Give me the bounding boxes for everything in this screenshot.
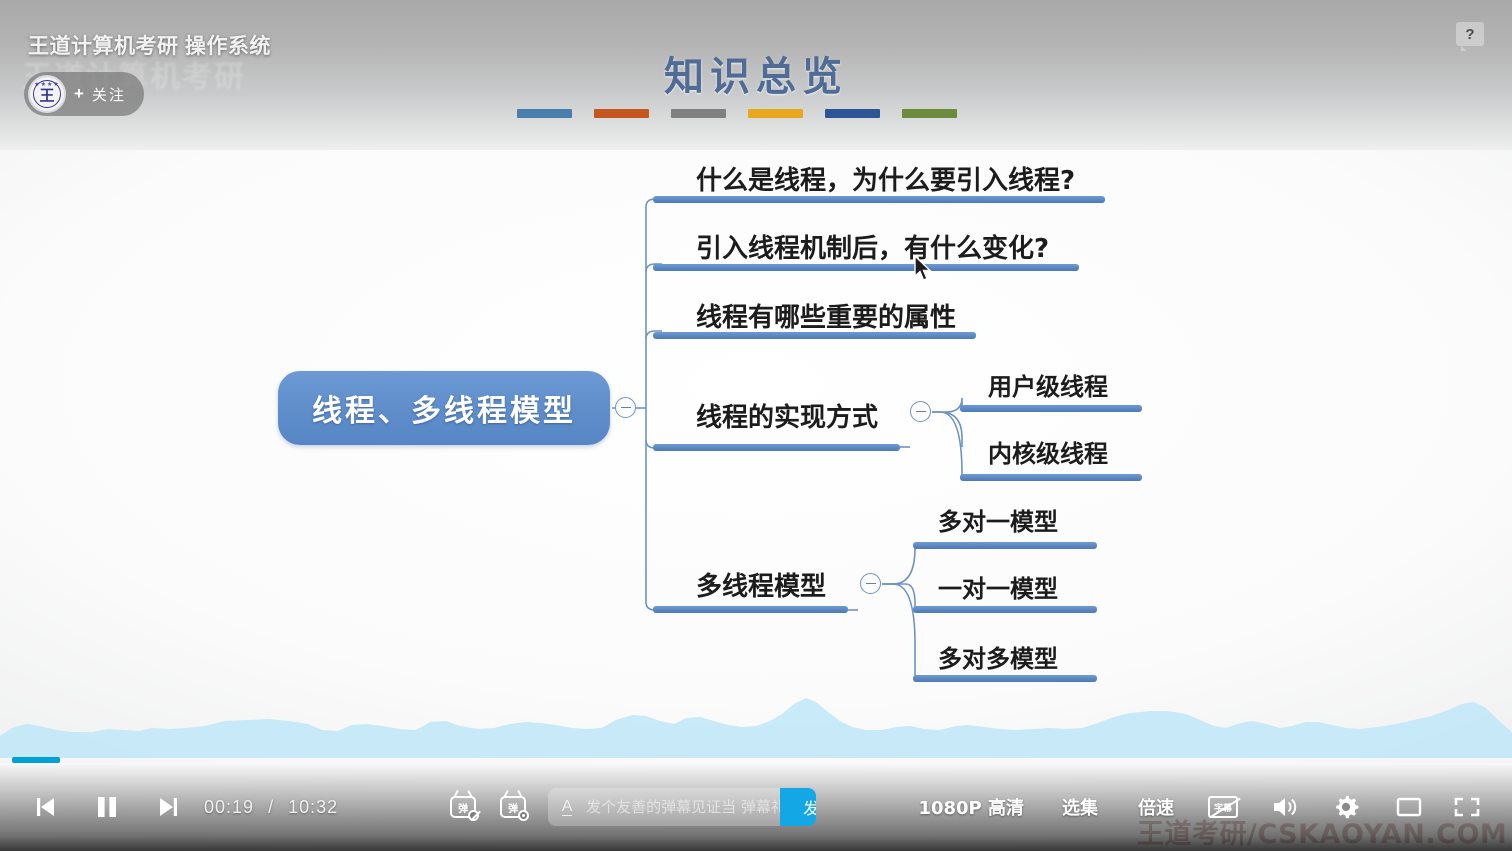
mindmap-node-underline [653, 264, 1079, 271]
mindmap-node-underline [653, 606, 848, 613]
popularity-heat-graph[interactable] [0, 688, 1512, 758]
collapse-toggle-implementation[interactable] [910, 401, 931, 422]
mindmap-node-underline [653, 444, 900, 451]
widescreen-button[interactable] [1394, 794, 1424, 820]
collapse-toggle-root[interactable] [615, 397, 636, 418]
mindmap-node-underline [960, 405, 1142, 412]
subtitle-button[interactable]: 字幕 [1208, 796, 1238, 818]
danmaku-settings-button[interactable]: 弹 [500, 796, 526, 818]
avatar[interactable]: ★★★★ 王 [28, 75, 66, 113]
mindmap-node-underline [913, 542, 1097, 549]
collapse-toggle-models[interactable] [860, 573, 881, 594]
time-separator: / [268, 797, 274, 817]
settings-button[interactable] [1332, 793, 1360, 821]
mindmap-node-underline [960, 474, 1142, 481]
playback-speed-button[interactable]: 倍速 [1138, 794, 1174, 820]
volume-button[interactable] [1270, 794, 1298, 820]
quality-selector[interactable]: 1080P 高清 [918, 794, 1024, 820]
subtitle-icon: 字幕 [1208, 796, 1238, 818]
send-danmaku-button[interactable]: 发送 [780, 788, 816, 826]
follow-button[interactable]: ★★★★ 王 + 关注 [24, 72, 144, 116]
video-player: 知识总览 [0, 0, 1512, 851]
time-display: 00:19 / 10:32 [204, 797, 338, 818]
widescreen-icon [1394, 794, 1424, 820]
mindmap-node-label: 什么是线程，为什么要引入线程? [696, 160, 1075, 197]
mindmap-node-label: 线程的实现方式 [696, 397, 878, 434]
mindmap-node-label: 内核级线程 [988, 434, 1108, 469]
mindmap-node-label: 用户级线程 [988, 367, 1108, 402]
danmaku-input[interactable] [586, 798, 780, 816]
mindmap-node-label: 引入线程机制后，有什么变化? [696, 228, 1049, 265]
mindmap-node-underline [653, 196, 1105, 203]
volume-icon [1270, 794, 1298, 820]
mindmap-node-underline [913, 675, 1097, 682]
mindmap-node-label: 多对一模型 [938, 502, 1058, 537]
fullscreen-icon [1452, 794, 1482, 820]
danmaku-style-label: A [562, 798, 573, 817]
episode-list-button[interactable]: 选集 [1062, 794, 1098, 820]
danmaku-settings-badge [518, 810, 529, 821]
danmaku-off-icon: 弹 [450, 796, 476, 818]
mindmap-node-label: 多对多模型 [938, 639, 1058, 674]
follow-label: 关注 [92, 84, 126, 105]
duration: 10:32 [288, 797, 338, 817]
gear-icon [1332, 793, 1360, 821]
danmaku-settings-icon: 弹 [500, 796, 526, 818]
danmaku-input-group[interactable]: A 发送 [548, 788, 816, 826]
mindmap-connectors [0, 0, 1512, 760]
danmaku-off-badge [468, 810, 479, 821]
danmaku-off-button[interactable]: 弹 [450, 796, 476, 818]
next-episode-button[interactable] [154, 793, 182, 821]
avatar-crest: 王 [39, 84, 54, 105]
mindmap-node-label: 一对一模型 [938, 569, 1058, 604]
fullscreen-button[interactable] [1452, 794, 1482, 820]
mindmap-node-label: 线程有哪些重要的属性 [696, 297, 956, 334]
mindmap-node-label: 多线程模型 [696, 566, 826, 603]
danmaku-style-icon[interactable]: A [548, 798, 586, 817]
previous-episode-button[interactable] [32, 793, 60, 821]
mindmap: 线程、多线程模型 什么是线程，为什么要引入线程? 引入线程机制后，有什么变化? … [0, 0, 1512, 760]
mindmap-node-underline [913, 606, 1097, 613]
mouse-cursor [913, 255, 935, 283]
player-control-bar: 00:19 / 10:32 弹 弹 A 发送 1080P 高清 选集 倍速 [0, 763, 1512, 851]
pause-button[interactable] [94, 793, 120, 821]
plus-icon: + [74, 84, 84, 104]
mindmap-root-label: 线程、多线程模型 [312, 386, 576, 430]
mindmap-root-node[interactable]: 线程、多线程模型 [278, 371, 610, 445]
mindmap-node-underline [653, 332, 976, 339]
current-time: 00:19 [204, 797, 254, 817]
